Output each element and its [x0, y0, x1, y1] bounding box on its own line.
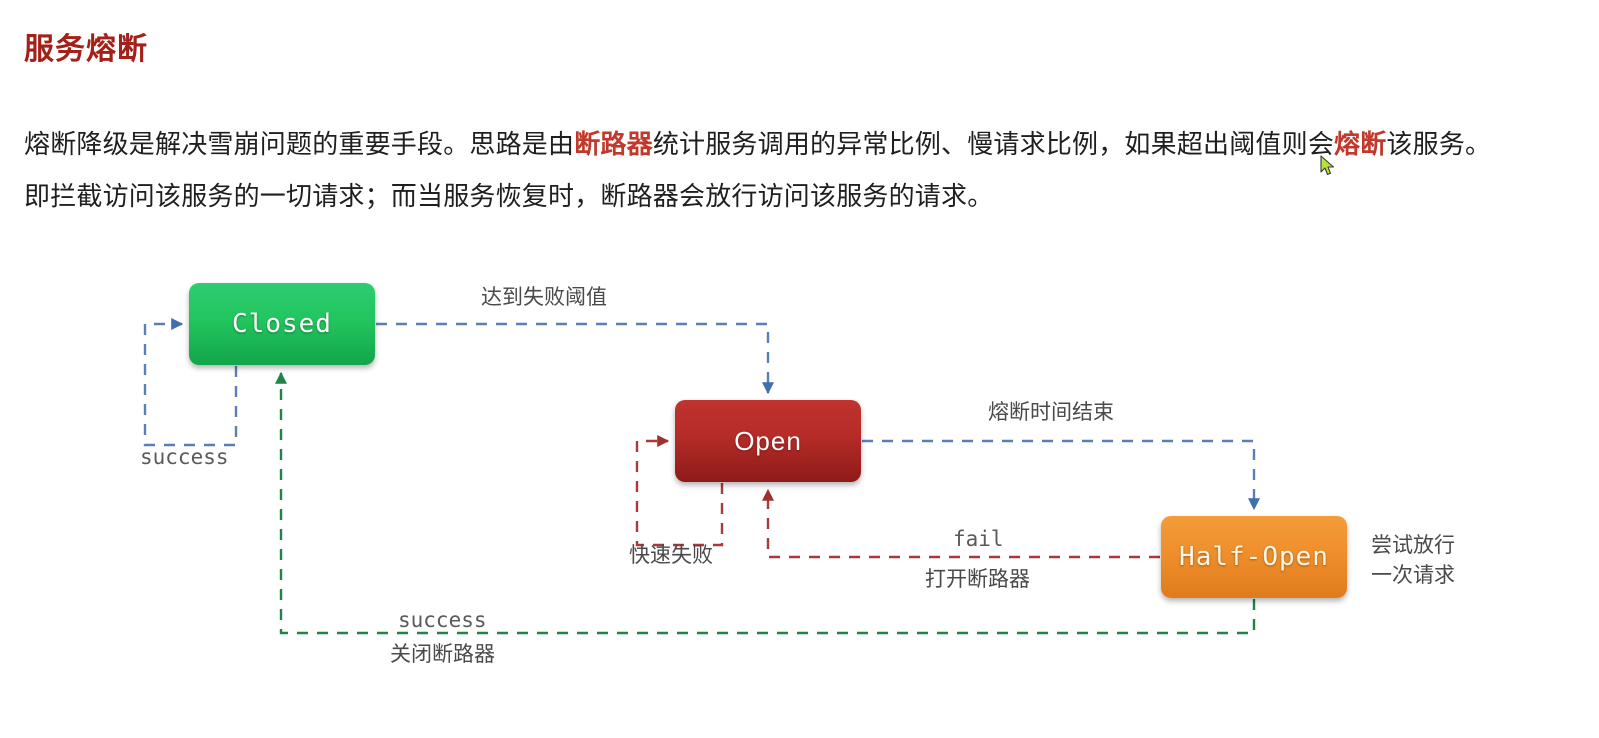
- mouse-cursor-icon: [1320, 155, 1336, 177]
- edge-closed-self-loop: [145, 324, 236, 445]
- state-node-closed[interactable]: Closed: [189, 283, 375, 365]
- edge-note-halfopen-line2: 一次请求: [1371, 561, 1455, 591]
- page-title: 服务熔断: [24, 28, 148, 72]
- state-machine-diagram: Closed Open Half-Open success 达到失败阈值 快速失…: [0, 0, 1599, 738]
- edge-label-open-self: 快速失败: [629, 541, 713, 571]
- paragraph-segment-2: 统计服务调用的异常比例、慢请求比例，如果超出阈值则会: [653, 129, 1334, 159]
- edge-note-halfopen-line1: 尝试放行: [1371, 531, 1455, 561]
- paragraph-highlight-circuit-breaker: 断路器: [574, 129, 653, 159]
- article-paragraph: 熔断降级是解决雪崩问题的重要手段。思路是由断路器统计服务调用的异常比例、慢请求比…: [24, 118, 1494, 222]
- edge-open-self-loop: [637, 441, 722, 545]
- state-node-closed-label: Closed: [232, 309, 332, 339]
- paragraph-highlight-break: 熔断: [1334, 129, 1386, 159]
- state-node-half-open-label: Half-Open: [1179, 542, 1329, 572]
- edge-halfopen-to-closed: [281, 373, 1254, 633]
- edge-label-halfopen-to-closed-en: success: [398, 605, 487, 635]
- edge-label-closed-to-open: 达到失败阈值: [481, 283, 607, 313]
- edge-closed-to-open: [376, 324, 768, 393]
- paragraph-segment-1: 熔断降级是解决雪崩问题的重要手段。思路是由: [24, 129, 574, 159]
- edge-label-halfopen-to-closed-cn: 关闭断路器: [390, 640, 495, 670]
- edge-label-closed-self: success: [140, 442, 229, 472]
- edge-label-open-to-halfopen: 熔断时间结束: [988, 398, 1114, 428]
- diagram-edges-svg: [0, 0, 1599, 738]
- state-node-half-open[interactable]: Half-Open: [1161, 516, 1347, 598]
- edge-open-to-halfopen: [862, 441, 1254, 509]
- edge-label-halfopen-to-open-en: fail: [953, 524, 1004, 554]
- edge-label-halfopen-to-open-cn: 打开断路器: [925, 565, 1030, 595]
- state-node-open-label: Open: [734, 426, 802, 457]
- state-node-open[interactable]: Open: [675, 400, 861, 482]
- edge-halfopen-to-open: [768, 490, 1160, 557]
